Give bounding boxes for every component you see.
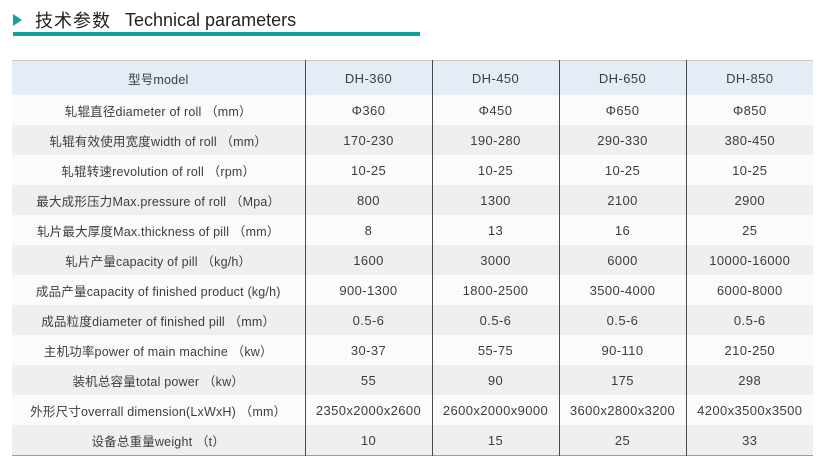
table-row: 轧片最大厚度Max.thickness of pill （mm） 8 13 16… — [12, 215, 813, 245]
row-label: 设备总重量weight （t） — [12, 425, 305, 456]
row-value: 3600x2800x3200 — [559, 395, 686, 425]
row-value: 90 — [432, 365, 559, 395]
row-value: 2600x2000x9000 — [432, 395, 559, 425]
row-value: 0.5-6 — [305, 305, 432, 335]
row-value: 1800-2500 — [432, 275, 559, 305]
row-value: 0.5-6 — [559, 305, 686, 335]
row-value: 4200x3500x3500 — [686, 395, 813, 425]
row-value: 13 — [432, 215, 559, 245]
row-value: 15 — [432, 425, 559, 456]
row-value: 900-1300 — [305, 275, 432, 305]
spec-table-container: 型号model DH-360 DH-450 DH-650 DH-850 轧辊直径… — [12, 60, 813, 456]
row-value: 175 — [559, 365, 686, 395]
header-cell-label: 型号model — [12, 61, 305, 96]
technical-parameters-table: 型号model DH-360 DH-450 DH-650 DH-850 轧辊直径… — [12, 60, 813, 456]
table-row: 外形尺寸overrall dimension(LxWxH) （mm） 2350x… — [12, 395, 813, 425]
row-label: 成品粒度diameter of finished pill （mm） — [12, 305, 305, 335]
row-value: 55 — [305, 365, 432, 395]
row-value: 170-230 — [305, 125, 432, 155]
row-value: Φ450 — [432, 95, 559, 125]
row-label: 最大成形压力Max.pressure of roll （Mpa） — [12, 185, 305, 215]
row-value: 10000-16000 — [686, 245, 813, 275]
row-label: 主机功率power of main machine （kw） — [12, 335, 305, 365]
row-value: 290-330 — [559, 125, 686, 155]
table-row: 成品粒度diameter of finished pill （mm） 0.5-6… — [12, 305, 813, 335]
row-value: 2350x2000x2600 — [305, 395, 432, 425]
table-row: 轧片产量capacity of pill （kg/h） 1600 3000 60… — [12, 245, 813, 275]
row-value: 6000 — [559, 245, 686, 275]
row-value: 10-25 — [432, 155, 559, 185]
row-value: 10-25 — [305, 155, 432, 185]
row-value: 0.5-6 — [432, 305, 559, 335]
row-value: 298 — [686, 365, 813, 395]
row-value: 8 — [305, 215, 432, 245]
table-row: 主机功率power of main machine （kw） 30-37 55-… — [12, 335, 813, 365]
triangle-right-icon — [13, 14, 22, 26]
table-row: 设备总重量weight （t） 10 15 25 33 — [12, 425, 813, 456]
table-head: 型号model DH-360 DH-450 DH-650 DH-850 — [12, 61, 813, 96]
row-value: 30-37 — [305, 335, 432, 365]
row-label: 装机总容量total power （kw） — [12, 365, 305, 395]
row-value: 2900 — [686, 185, 813, 215]
row-value: 0.5-6 — [686, 305, 813, 335]
row-label: 轧片最大厚度Max.thickness of pill （mm） — [12, 215, 305, 245]
row-value: 190-280 — [432, 125, 559, 155]
row-value: 1300 — [432, 185, 559, 215]
section-title-en: Technical parameters — [125, 10, 296, 31]
row-value: 90-110 — [559, 335, 686, 365]
heading-row: 技术参数 Technical parameters — [13, 0, 825, 35]
row-value: 2100 — [559, 185, 686, 215]
row-value: 25 — [686, 215, 813, 245]
row-value: 1600 — [305, 245, 432, 275]
row-value: Φ650 — [559, 95, 686, 125]
header-cell-model-1: DH-360 — [305, 61, 432, 96]
table-row: 装机总容量total power （kw） 55 90 175 298 — [12, 365, 813, 395]
row-label: 轧辊直径diameter of roll （mm） — [12, 95, 305, 125]
header-cell-model-3: DH-650 — [559, 61, 686, 96]
row-value: 3000 — [432, 245, 559, 275]
row-value: 380-450 — [686, 125, 813, 155]
table-body: 轧辊直径diameter of roll （mm） Φ360 Φ450 Φ650… — [12, 95, 813, 456]
row-label: 轧辊转速revolution of roll （rpm） — [12, 155, 305, 185]
row-value: Φ360 — [305, 95, 432, 125]
row-value: 800 — [305, 185, 432, 215]
section-title-cn: 技术参数 — [35, 7, 111, 33]
row-value: 25 — [559, 425, 686, 456]
table-row: 成品产量capacity of finished product (kg/h) … — [12, 275, 813, 305]
header-cell-model-4: DH-850 — [686, 61, 813, 96]
row-label: 成品产量capacity of finished product (kg/h) — [12, 275, 305, 305]
row-value: Φ850 — [686, 95, 813, 125]
row-value: 10 — [305, 425, 432, 456]
table-row: 轧辊转速revolution of roll （rpm） 10-25 10-25… — [12, 155, 813, 185]
heading-accent-rule — [13, 32, 420, 36]
row-value: 3500-4000 — [559, 275, 686, 305]
row-value: 6000-8000 — [686, 275, 813, 305]
table-row: 最大成形压力Max.pressure of roll （Mpa） 800 130… — [12, 185, 813, 215]
row-value: 10-25 — [686, 155, 813, 185]
row-label: 轧辊有效使用宽度width of roll （mm） — [12, 125, 305, 155]
table-row: 轧辊直径diameter of roll （mm） Φ360 Φ450 Φ650… — [12, 95, 813, 125]
row-value: 33 — [686, 425, 813, 456]
table-header-row: 型号model DH-360 DH-450 DH-650 DH-850 — [12, 61, 813, 96]
row-value: 210-250 — [686, 335, 813, 365]
row-value: 16 — [559, 215, 686, 245]
row-value: 55-75 — [432, 335, 559, 365]
section-heading: 技术参数 Technical parameters — [0, 0, 825, 44]
row-label: 外形尺寸overrall dimension(LxWxH) （mm） — [12, 395, 305, 425]
row-label: 轧片产量capacity of pill （kg/h） — [12, 245, 305, 275]
table-row: 轧辊有效使用宽度width of roll （mm） 170-230 190-2… — [12, 125, 813, 155]
header-cell-model-2: DH-450 — [432, 61, 559, 96]
row-value: 10-25 — [559, 155, 686, 185]
